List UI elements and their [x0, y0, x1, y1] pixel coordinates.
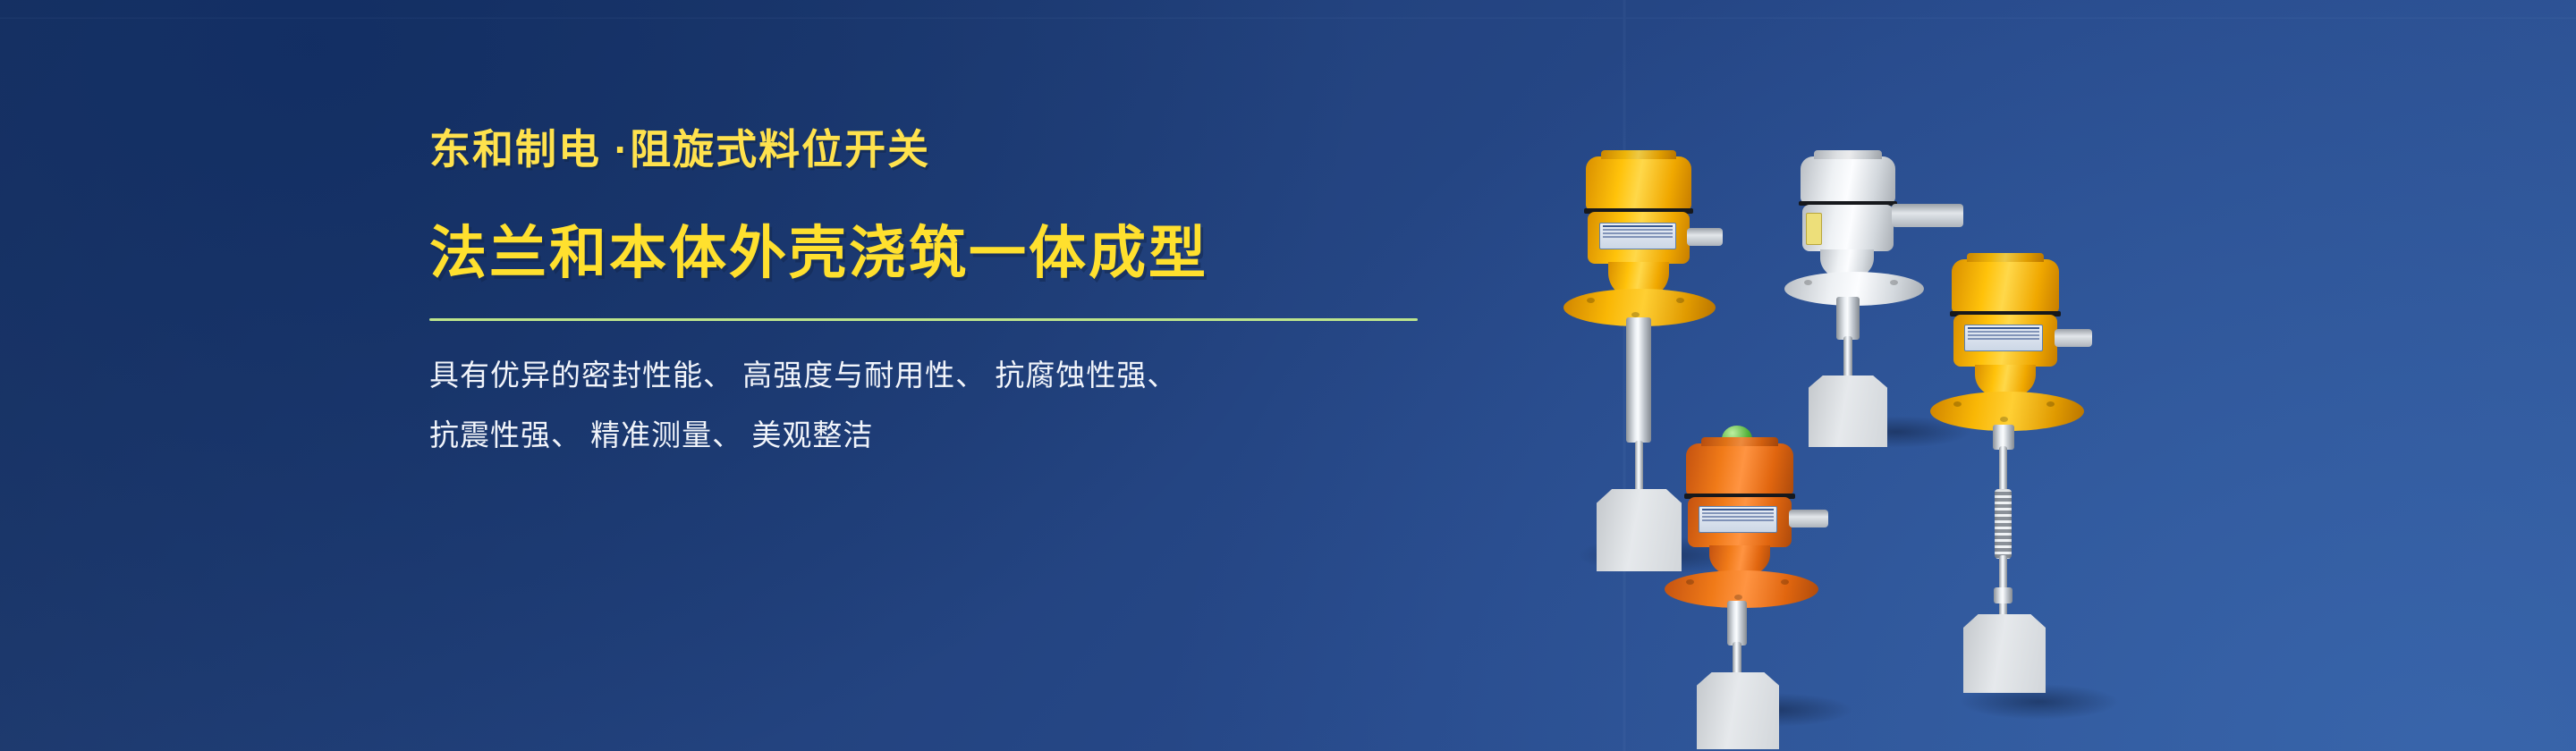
lower-cable [1999, 555, 2007, 618]
housing-cap [1952, 259, 2059, 313]
upper-cable [1999, 446, 2007, 493]
extension-tube [1836, 297, 1860, 340]
headline-divider [429, 318, 1418, 321]
conduit-entry [1789, 510, 1828, 527]
product-hero-banner: 东和制电 ·阻旋式料位开关 法兰和本体外壳浇筑一体成型 具有优异的密封性能、 高… [0, 0, 2576, 751]
banner-body-line-2: 抗震性强、 精准测量、 美观整洁 [429, 420, 1503, 450]
paddle-shaft [1635, 441, 1643, 494]
housing-cap [1686, 443, 1793, 495]
banner-copy-block: 东和制电 ·阻旋式料位开关 法兰和本体外壳浇筑一体成型 具有优异的密封性能、 高… [429, 127, 1503, 450]
measuring-paddle [1697, 672, 1779, 749]
conduit-entry [2055, 329, 2092, 347]
cable-clamp [1994, 587, 2012, 603]
banner-body-line-1: 具有优异的密封性能、 高强度与耐用性、 抗腐蚀性强、 [429, 360, 1503, 390]
housing-cap [1801, 156, 1895, 203]
extension-tube [1626, 317, 1651, 443]
extension-tube [1727, 601, 1747, 646]
product-nameplate-label [1964, 325, 2043, 351]
housing-cap [1586, 156, 1691, 210]
product-nameplate-label [1599, 223, 1676, 249]
banner-body-text: 具有优异的密封性能、 高强度与耐用性、 抗腐蚀性强、 抗震性强、 精准测量、 美… [429, 360, 1503, 450]
product-rotary-paddle-level-switch-orange [1659, 358, 1928, 742]
conduit-entry [1687, 228, 1723, 246]
product-nameplate-label [1699, 506, 1777, 533]
banner-headline: 法兰和本体外壳浇筑一体成型 [429, 223, 1503, 284]
protective-spring [1995, 489, 2012, 559]
product-rotary-paddle-level-switch-yellow-spring-shaft [1923, 201, 2191, 738]
banner-eyebrow: 东和制电 ·阻旋式料位开关 [429, 127, 1503, 173]
product-tag-label [1806, 213, 1822, 245]
product-image-cluster [1476, 98, 2191, 653]
measuring-paddle [1963, 614, 2046, 693]
